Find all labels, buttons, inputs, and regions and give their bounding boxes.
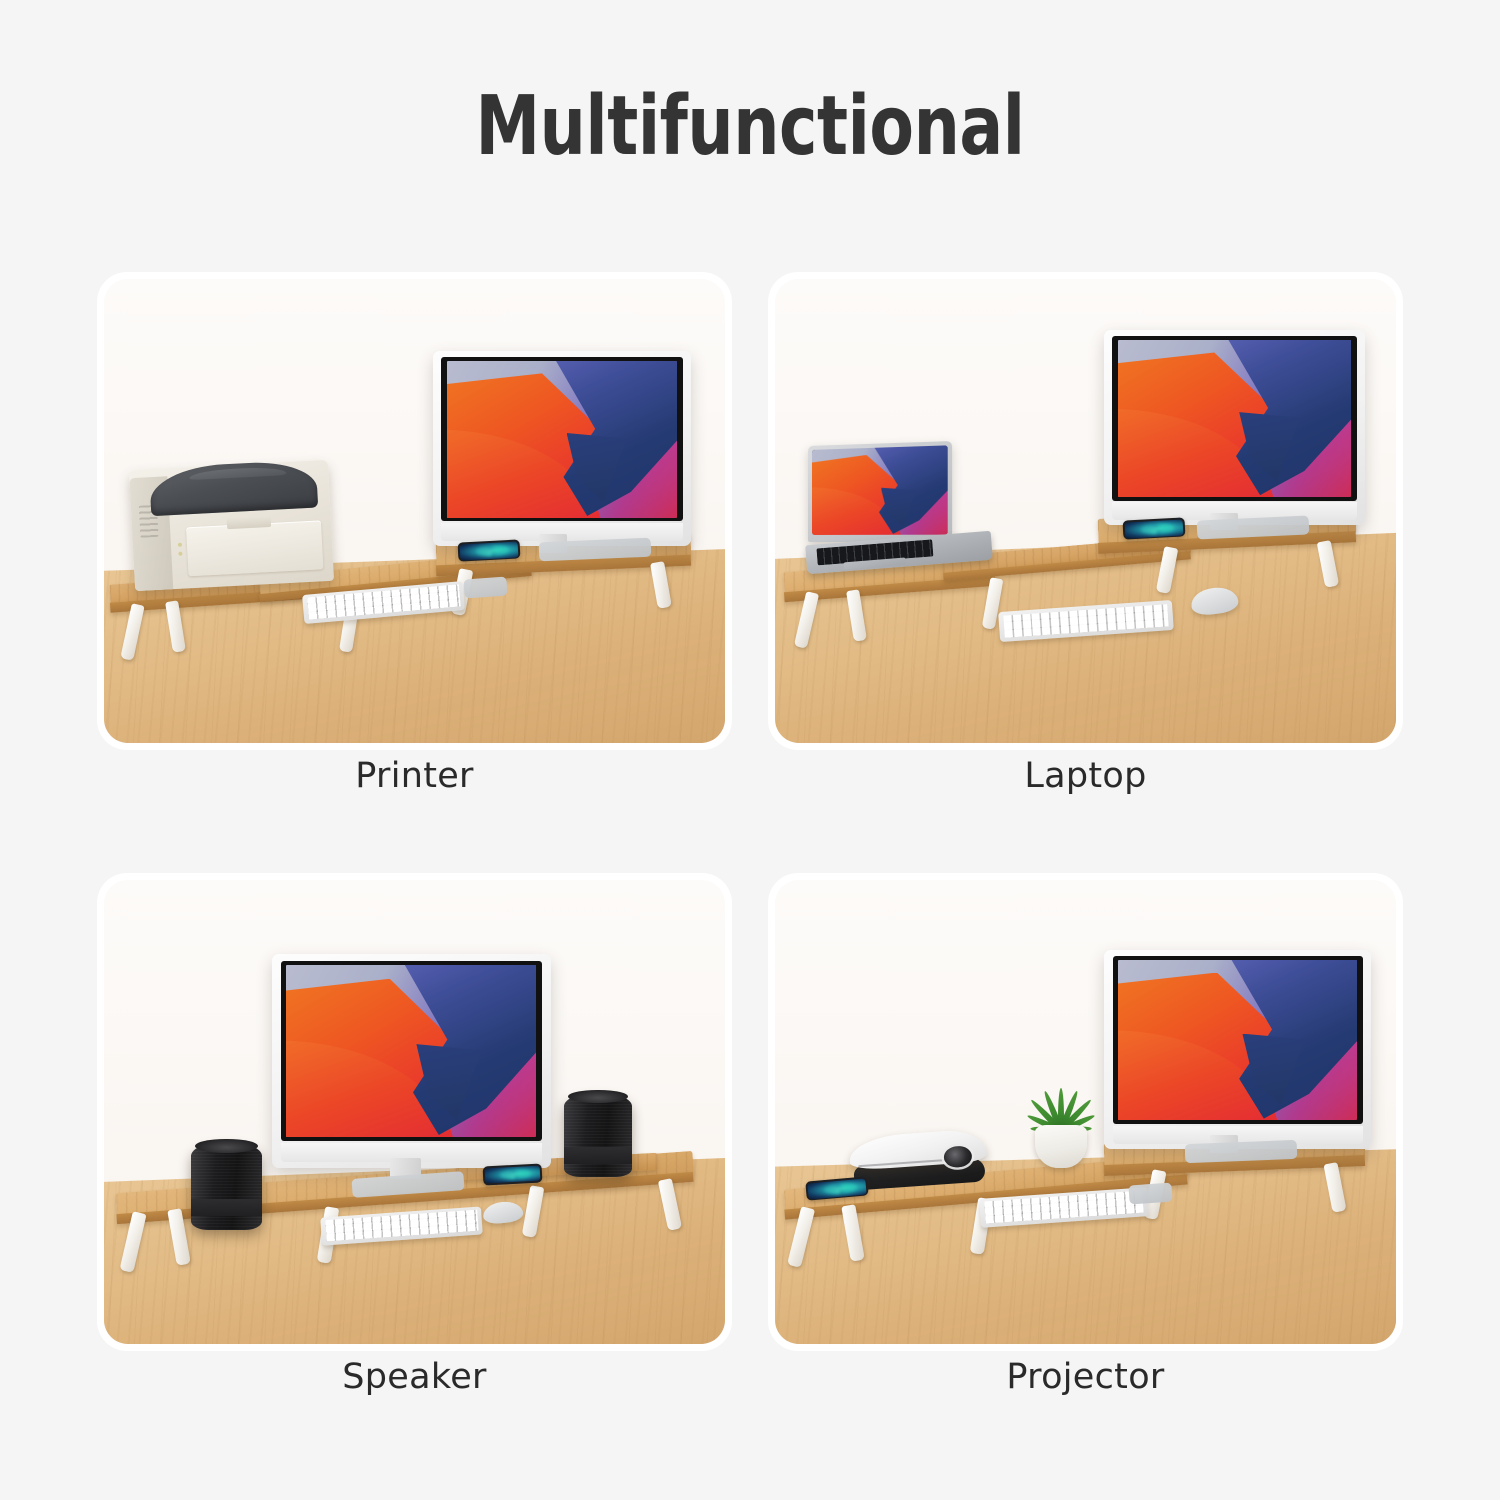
printer-status-led-power: [177, 542, 181, 546]
monitor-screen: [286, 965, 536, 1137]
smartphone: [482, 1164, 542, 1186]
panel-card-laptop[interactable]: [768, 272, 1403, 750]
monitor-display-frame: [281, 961, 543, 1141]
panel-caption-laptop: Laptop: [768, 756, 1403, 796]
printer-status-led-ready: [178, 552, 182, 556]
laser-printer: [129, 459, 334, 590]
panel-card-printer[interactable]: [97, 272, 732, 750]
video-projector: [848, 1128, 988, 1191]
printer-drawer-handle: [227, 516, 271, 529]
imac-monitor: [433, 351, 691, 546]
monitor-display-frame: [1112, 336, 1356, 500]
speaker-top-cap: [195, 1139, 258, 1153]
smartphone-screen: [484, 1166, 540, 1184]
monitor-screen: [1118, 960, 1357, 1121]
monitor-screen: [447, 361, 678, 518]
imac-monitor: [1104, 950, 1371, 1150]
scene-projector: [775, 880, 1396, 1344]
monitor-display-frame: [441, 357, 682, 521]
scene-printer: [104, 279, 725, 743]
feature-panel-grid: Printer: [97, 272, 1403, 1428]
keyboard-wrist-pad: [1128, 1182, 1173, 1204]
panel-speaker: Speaker: [97, 873, 732, 1428]
imac-monitor: [272, 954, 551, 1167]
keyboard-wrist-pad: [464, 577, 509, 599]
page-title: Multifunctional: [90, 86, 1410, 168]
plant-pot: [1035, 1125, 1087, 1168]
panel-caption-printer: Printer: [97, 756, 732, 796]
product-infographic: Multifunctional: [0, 0, 1500, 1500]
monitor-display-frame: [1113, 956, 1363, 1124]
scene-speaker: [104, 880, 725, 1344]
desktop-wallpaper: [1118, 340, 1351, 497]
imac-monitor: [1104, 330, 1365, 525]
scene-laptop: [775, 279, 1396, 743]
desktop-wallpaper: [286, 965, 536, 1137]
speaker-control-band: [191, 1199, 262, 1217]
macbook-laptop: [806, 446, 992, 576]
smartphone-screen: [459, 541, 518, 560]
monitor-screen: [1118, 340, 1351, 497]
panel-printer: Printer: [97, 272, 732, 827]
black-cylinder-speaker-left: [191, 1142, 262, 1230]
desktop-wallpaper: [1118, 960, 1357, 1121]
laptop-wallpaper: [812, 445, 948, 535]
printer-paper-drawer: [186, 520, 323, 575]
speaker-body: [191, 1142, 262, 1230]
black-cylinder-speaker-right: [564, 1093, 632, 1177]
panel-card-projector[interactable]: [768, 873, 1403, 1351]
desktop-wallpaper: [447, 361, 678, 518]
printer-paper-stop: [189, 465, 286, 480]
speaker-body: [564, 1093, 632, 1177]
panel-caption-projector: Projector: [768, 1357, 1403, 1397]
speaker-control-band: [564, 1147, 632, 1164]
panel-caption-speaker: Speaker: [97, 1357, 732, 1397]
potted-succulent-plant: [1027, 1075, 1095, 1168]
laptop-lid: [808, 441, 952, 542]
smartphone-screen: [1124, 520, 1183, 539]
laptop-screen: [812, 445, 948, 535]
panel-projector: Projector: [768, 873, 1403, 1428]
panel-card-speaker[interactable]: [97, 873, 732, 1351]
panel-laptop: Laptop: [768, 272, 1403, 827]
smartphone: [458, 539, 521, 562]
